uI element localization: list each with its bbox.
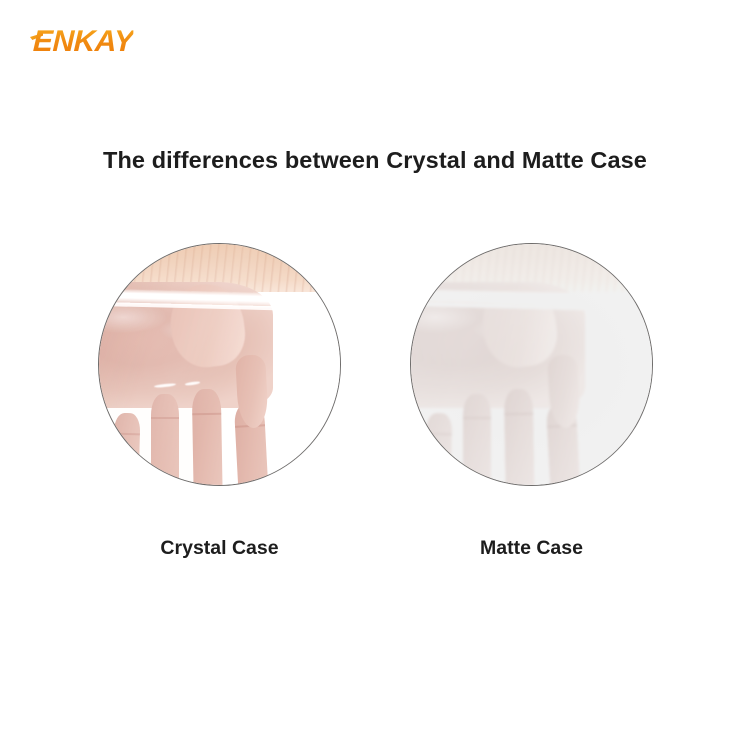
matte-case-photo — [410, 243, 653, 486]
finger — [423, 413, 451, 486]
product-comparison-page: ENKAY The differences between Crystal an… — [0, 0, 750, 750]
finger — [504, 389, 536, 486]
brand-logo: ENKAY — [32, 27, 133, 57]
page-title: The differences between Crystal and Matt… — [0, 147, 750, 174]
comparison-section — [0, 243, 750, 493]
finger — [192, 389, 224, 486]
finger — [151, 394, 179, 486]
finger — [111, 413, 139, 486]
matte-scene — [410, 243, 653, 486]
finger — [463, 394, 491, 486]
crystal-scene — [98, 243, 341, 486]
crystal-case-caption: Crystal Case — [98, 537, 341, 560]
crystal-case-photo — [98, 243, 341, 486]
matte-case-caption: Matte Case — [410, 537, 653, 560]
